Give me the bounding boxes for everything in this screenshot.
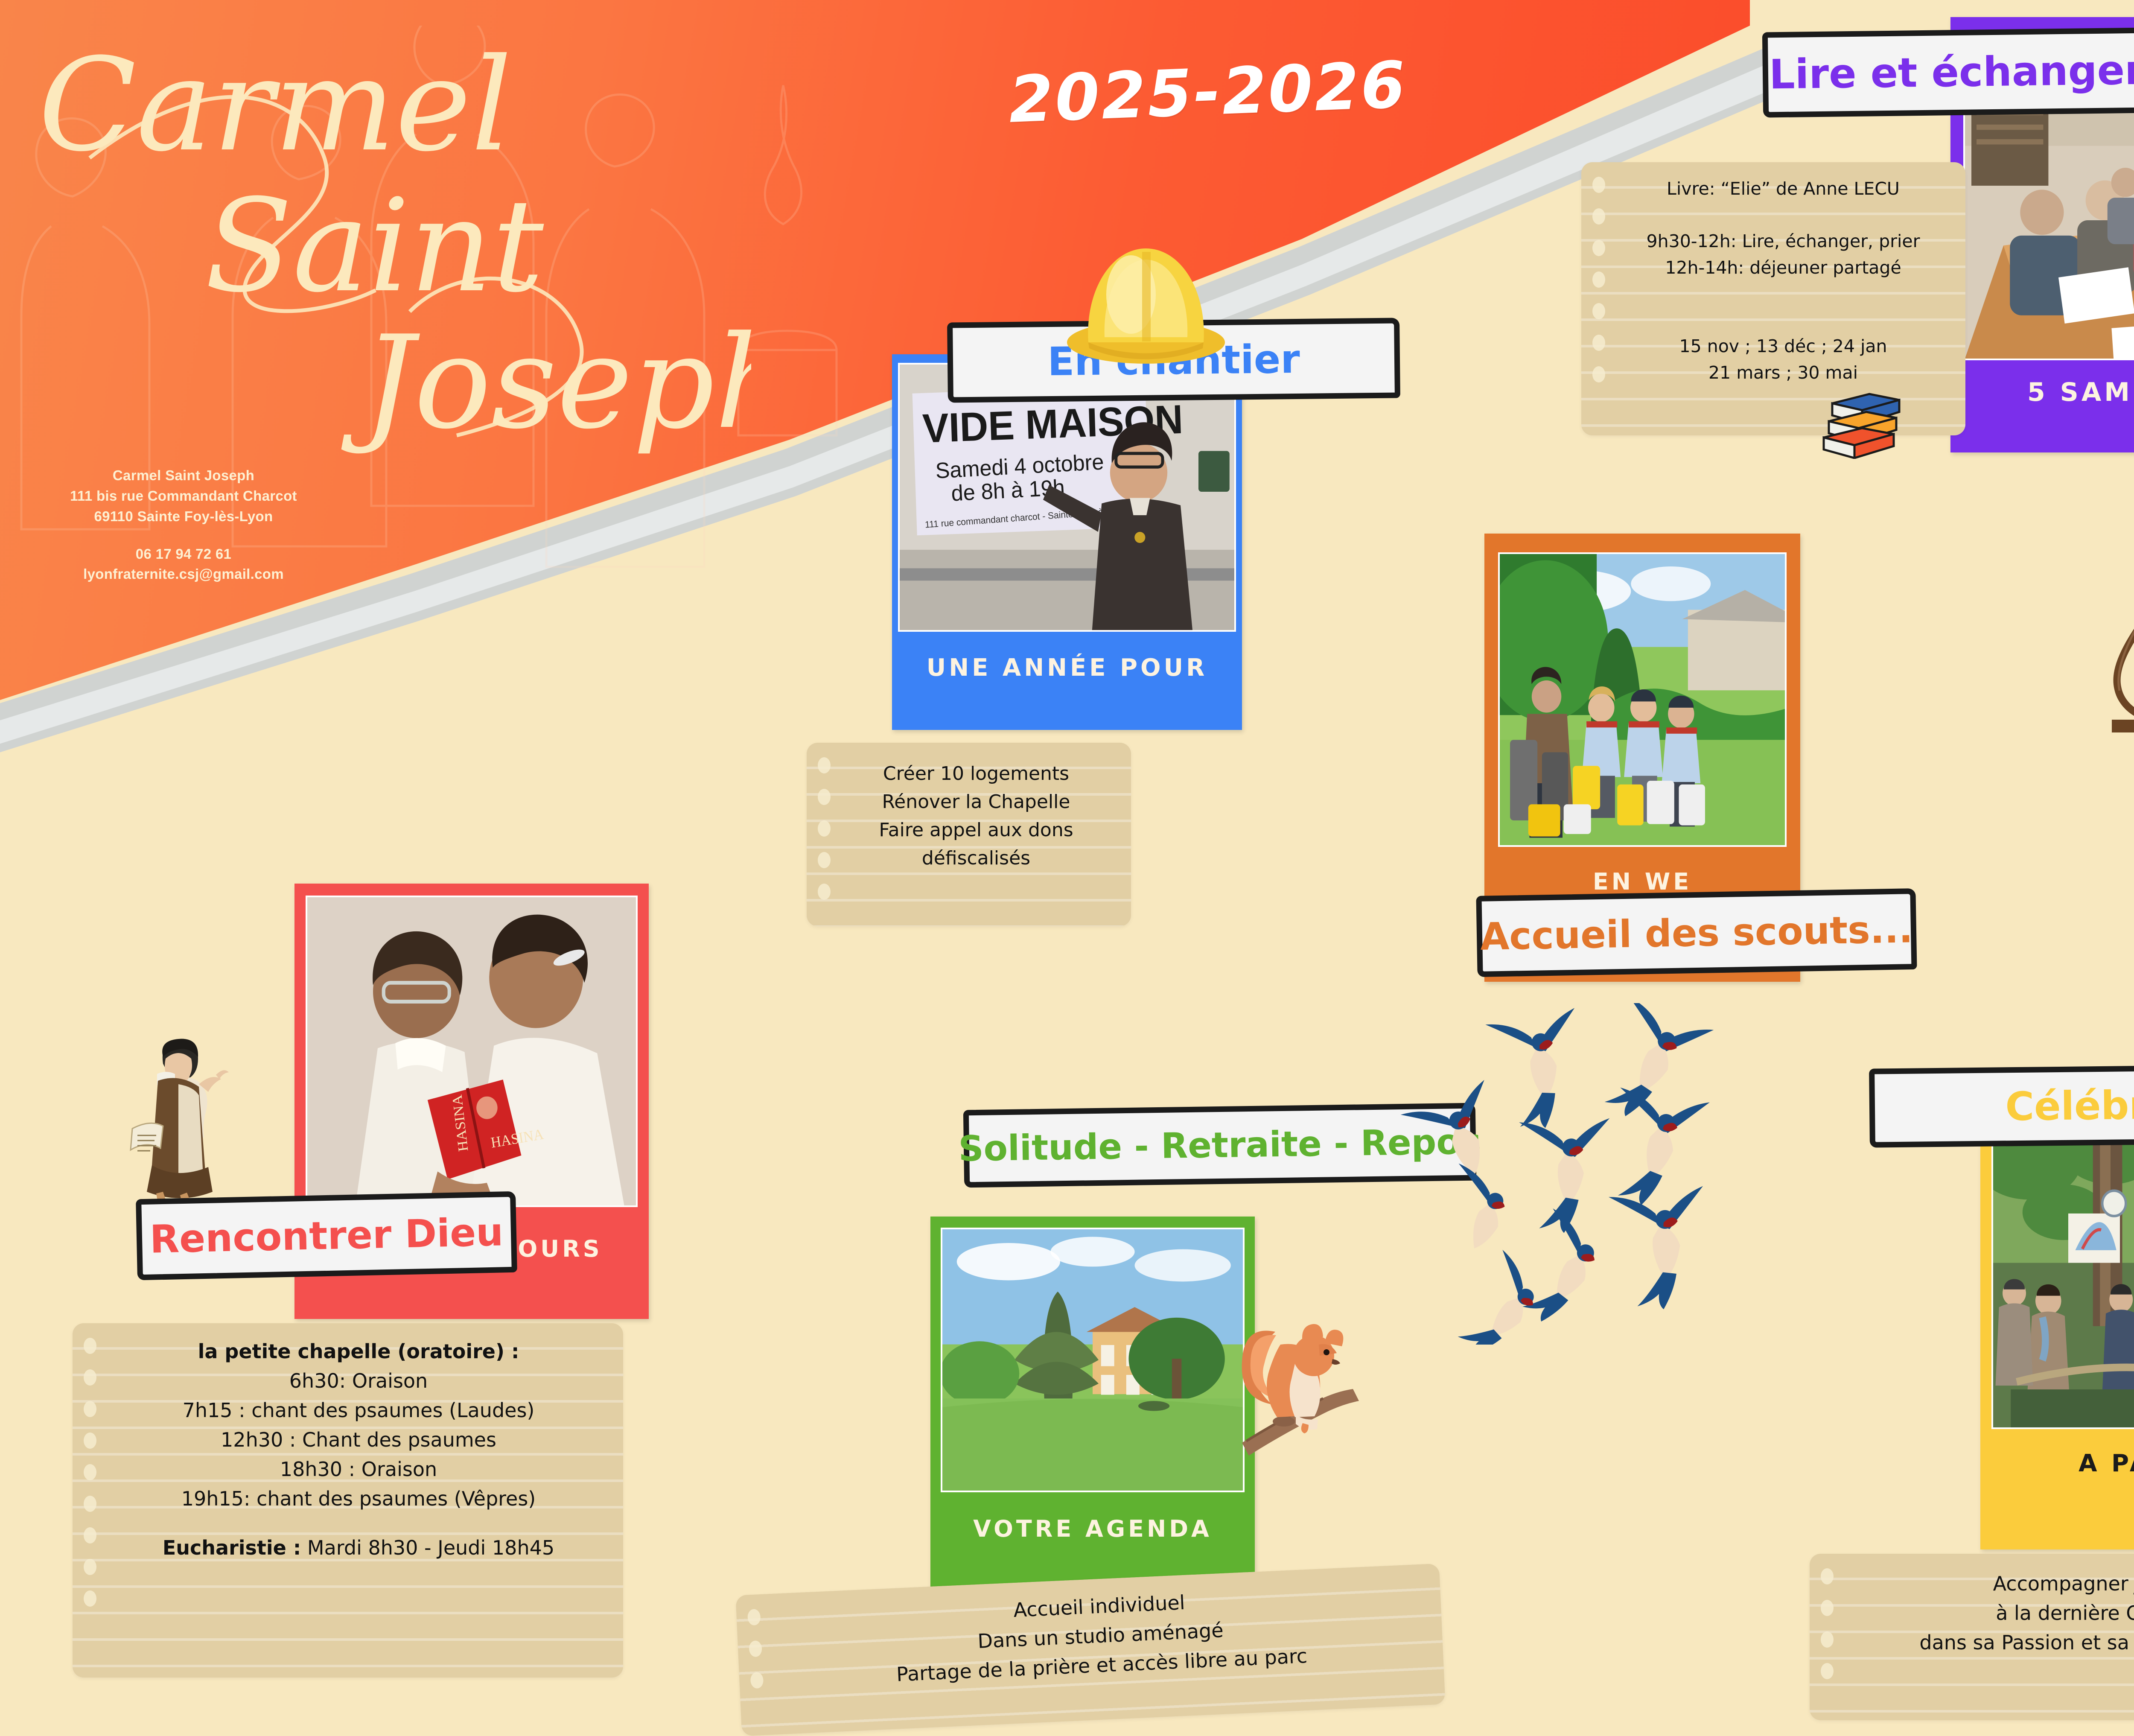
celebrer-note-line: dans sa Passion et sa Résurrection <box>1844 1628 2134 1657</box>
stacked-books-icon <box>1812 361 1910 459</box>
scouts-title: Accueil des scouts... <box>1480 907 1913 959</box>
chantier-note: Créer 10 logements Rénover la Chapelle F… <box>807 743 1131 926</box>
flying-swallows-icon <box>1366 1003 1750 1345</box>
celebrer-title: Célébrer <box>2005 1082 2134 1130</box>
celebrer-note-line: à la dernière Cène, <box>1844 1599 2134 1628</box>
rencontrer-title: Rencontrer Dieu <box>149 1210 504 1262</box>
lire-note-line: 9h30-12h: Lire, échanger, prier <box>1614 228 1953 255</box>
celebrer-photo-frame: A PÂQUES <box>1980 1123 2134 1549</box>
scouts-photo <box>1498 552 1787 847</box>
scouts-title-plate: Accueil des scouts... <box>1476 888 1917 977</box>
rencontrer-photo: HASINA HASINA <box>306 896 638 1207</box>
solitude-note: Accueil individuel Dans un studio aménag… <box>735 1564 1445 1736</box>
scouts-garden-photo-illustration <box>1500 554 1785 845</box>
chantier-note-line: défiscalisés <box>832 844 1120 872</box>
chantier-caption: UNE ANNÉE POUR <box>892 654 1242 682</box>
way-of-the-cross-photo-illustration <box>1993 1136 2134 1427</box>
carmel-saint-joseph-script-logo: Carmel Saint Joseph <box>26 17 751 478</box>
chantier-photo: VIDE MAISON Samedi 4 octobre de 8h à 19h… <box>898 363 1236 632</box>
eucharistie-times: Mardi 8h30 - Jeudi 18h45 <box>301 1536 554 1559</box>
carmel-saint-joseph-logo-icon: Carmel Saint Joseph <box>2087 563 2134 734</box>
celebrer-photo <box>1991 1135 2134 1429</box>
eucharistie-label: Eucharistie : <box>163 1536 301 1559</box>
two-sisters-singing-photo-illustration: HASINA HASINA <box>307 897 636 1205</box>
rencontrer-note-heading: la petite chapelle (oratoire) : <box>111 1337 606 1366</box>
contact-email[interactable]: lyonfraternite.csj@gmail.com <box>13 564 354 584</box>
rencontrer-note-footer: Eucharistie : Mardi 8h30 - Jeudi 18h45 <box>111 1533 606 1563</box>
vide-maison-photo-illustration: VIDE MAISON Samedi 4 octobre de 8h à 19h… <box>900 365 1234 630</box>
rencontrer-note-line: 7h15 : chant des psaumes (Laudes) <box>111 1396 606 1425</box>
chantier-note-line: Faire appel aux dons <box>832 816 1120 844</box>
squirrel-on-branch-icon <box>1212 1281 1391 1460</box>
contact-city: 69110 Sainte Foy-lès-Lyon <box>13 506 354 527</box>
rencontrer-note-line: 19h15: chant des psaumes (Vêpres) <box>111 1484 606 1514</box>
park-lawn-photo-illustration <box>942 1229 1243 1491</box>
solitude-note-body: Accueil individuel Dans un studio aménag… <box>735 1564 1443 1697</box>
solitude-photo-frame: VOTRE AGENDA <box>930 1217 1255 1588</box>
celebrer-note-line: Accompagner Jésus <box>1844 1569 2134 1599</box>
celebrer-note-body: Accompagner Jésus à la dernière Cène, da… <box>1810 1554 2134 1657</box>
script-line-joseph: Joseph <box>341 308 751 457</box>
chantier-note-line: Créer 10 logements <box>832 760 1120 788</box>
lire-note-line: 15 nov ; 13 déc ; 24 jan <box>1614 333 1953 360</box>
saint-teresa-illustration-icon <box>115 1024 235 1221</box>
lire-title-plate: Lire et échanger <box>1762 27 2134 117</box>
rencontrer-note-line: 6h30: Oraison <box>111 1366 606 1396</box>
contact-block: Carmel Saint Joseph 111 bis rue Commanda… <box>13 465 354 584</box>
rencontrer-note-line: 18h30 : Oraison <box>111 1455 606 1484</box>
lire-title: Lire et échanger <box>1769 47 2134 99</box>
lire-note-line <box>1614 202 1953 229</box>
celebrer-title-plate: Célébrer <box>1869 1064 2134 1147</box>
chantier-note-line: Rénover la Chapelle <box>832 788 1120 816</box>
lire-caption: 5 SAMEDIS MATIN <box>1950 377 2134 407</box>
lire-note-line <box>1614 307 1953 334</box>
chantier-note-body: Créer 10 logements Rénover la Chapelle F… <box>807 743 1131 872</box>
lire-note-line: 12h-14h: déjeuner partagé <box>1614 255 1953 281</box>
lire-note-body: Livre: “Elie” de Anne LECU 9h30-12h: Lir… <box>1581 162 1965 386</box>
rencontrer-note-body: la petite chapelle (oratoire) : 6h30: Or… <box>73 1323 623 1563</box>
celebrer-caption: A PÂQUES <box>1980 1450 2134 1477</box>
contact-street: 111 bis rue Commandant Charcot <box>13 486 354 506</box>
contact-name: Carmel Saint Joseph <box>13 465 354 486</box>
lire-note-line <box>1614 281 1953 307</box>
rencontrer-note: la petite chapelle (oratoire) : 6h30: Or… <box>73 1323 623 1678</box>
contact-phone[interactable]: 06 17 94 72 61 <box>13 544 354 564</box>
rencontrer-title-plate: Rencontrer Dieu <box>136 1191 517 1281</box>
celebrer-note: Accompagner Jésus à la dernière Cène, da… <box>1810 1554 2134 1720</box>
chantier-photo-frame: VIDE MAISON Samedi 4 octobre de 8h à 19h… <box>892 354 1242 730</box>
rencontrer-note-line: 12h30 : Chant des psaumes <box>111 1425 606 1455</box>
solitude-caption: VOTRE AGENDA <box>930 1515 1255 1542</box>
hard-hat-icon <box>1058 230 1233 367</box>
lire-note-line: Livre: “Elie” de Anne LECU <box>1614 176 1953 202</box>
solitude-photo <box>941 1228 1245 1492</box>
script-line-saint: Saint <box>205 172 544 321</box>
